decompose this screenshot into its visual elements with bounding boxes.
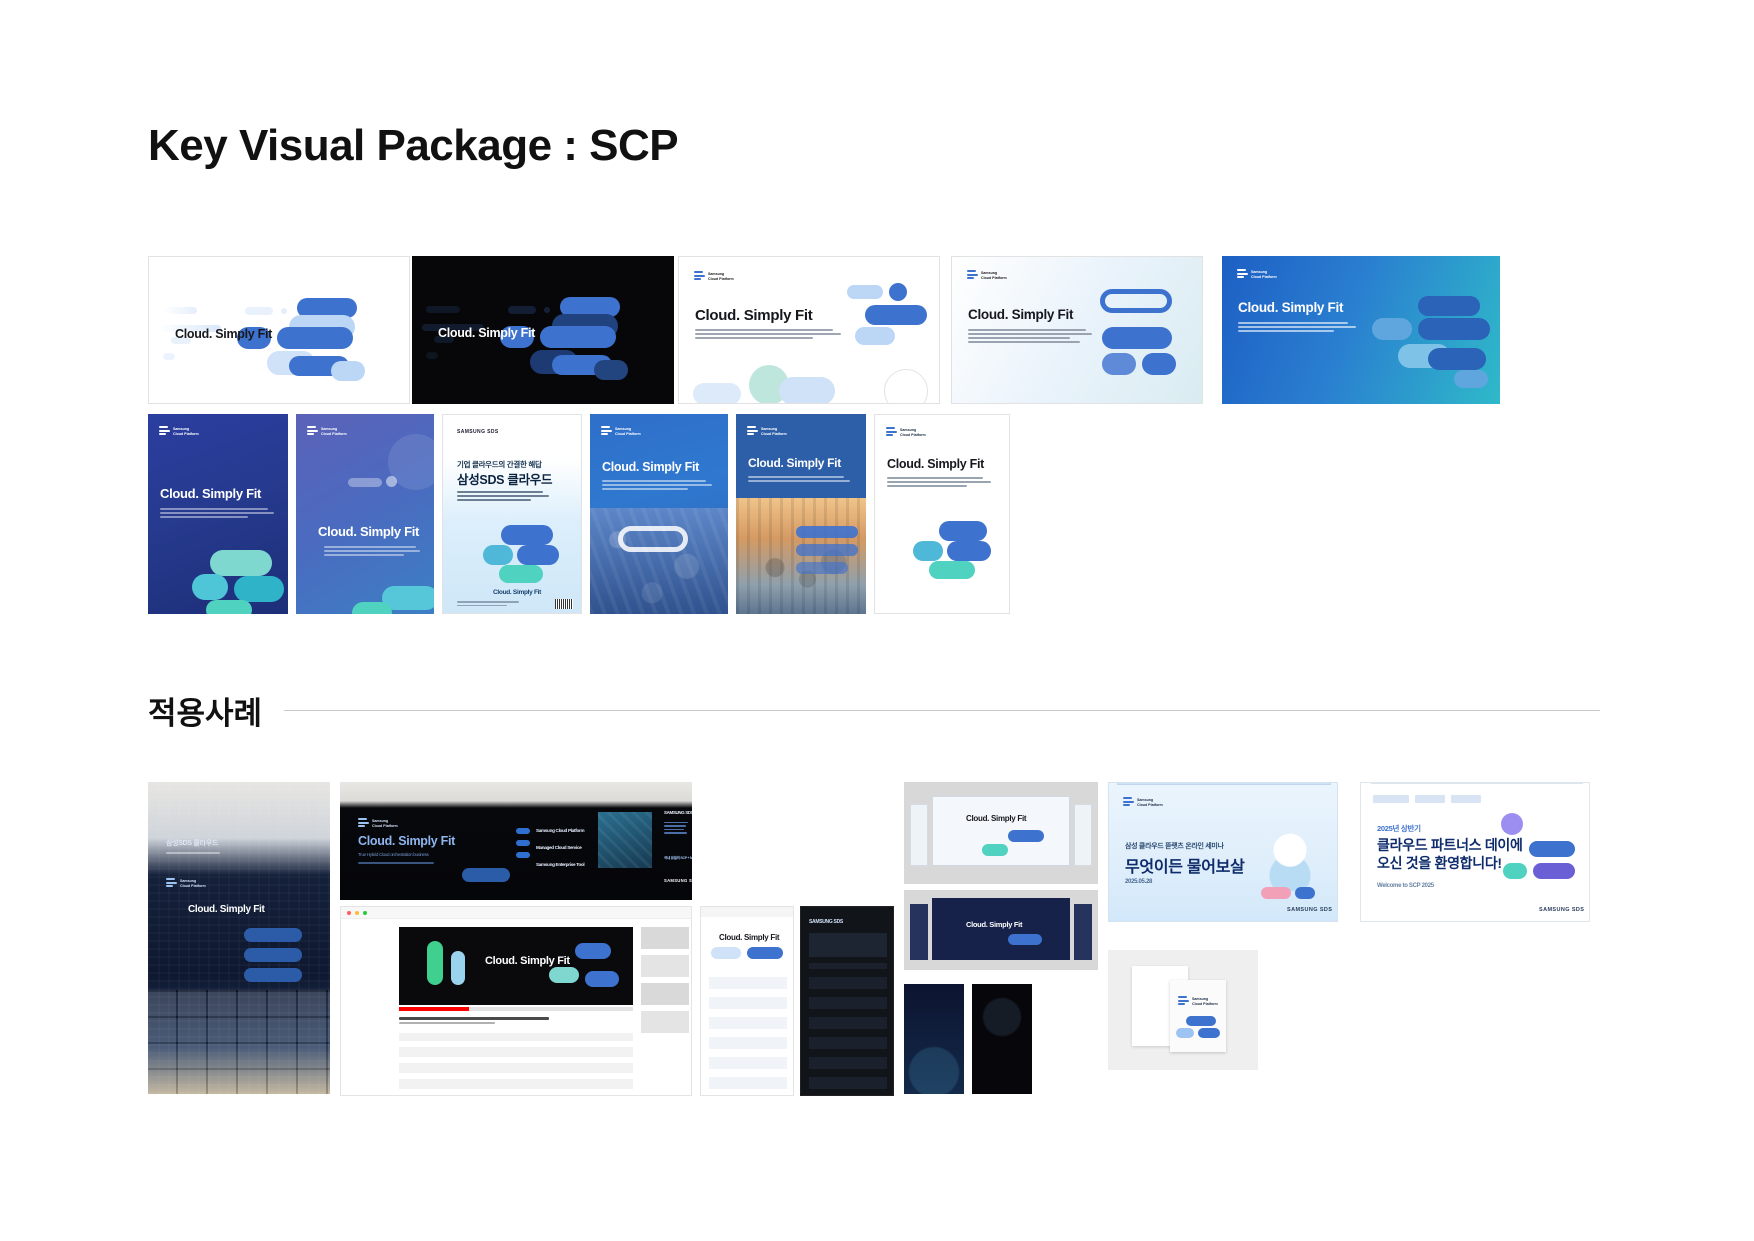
brochure-body-lines [457,491,549,503]
samsung-cloud-mark [159,426,170,437]
logo-line-1: Samsung [900,428,916,432]
kv-thumb-poster-photo-blue[interactable]: Samsung Cloud Platform Cloud. Simply Fit [590,414,728,614]
booth-kiosk-left [910,804,928,866]
logo-line-1: Samsung [708,272,724,276]
kv-tagline: Cloud. Simply Fit [602,460,699,474]
kv-thumb-black-horizontal[interactable]: Cloud. Simply Fit [412,256,674,404]
logo-line-2: Cloud Platform [173,432,199,436]
app-menu-chip-2 [244,968,302,982]
kv-thumb-poster-violet[interactable]: Samsung Cloud Platform Cloud. Simply Fit [296,414,434,614]
section-heading-label: 적용사례 [148,688,262,733]
app-signage-video-tile [598,812,652,868]
logo-line-2: Cloud Platform [900,433,926,437]
brochure-footer-tagline: Cloud. Simply Fit [493,589,541,596]
partners-logo-row [1373,795,1503,805]
webinar-mascot [1267,831,1313,891]
kv-thumb-poster-deepblue[interactable]: Samsung Cloud Platform Cloud. Simply Fit [148,414,288,614]
app-tagline: Cloud. Simply Fit [485,955,570,967]
partners-eyebrow: 2025년 상반기 [1377,823,1421,834]
samsung-cloud-mark [1178,996,1189,1007]
samsung-cloud-mark [358,818,369,829]
kv-thumb-blue-gradient[interactable]: Samsung Cloud Platform Cloud. Simply Fit [1222,256,1500,404]
app-signage-menu: Samsung Cloud Platform Managed Cloud Ser… [536,828,584,843]
kv-thumb-poster-photo-street[interactable]: Samsung Cloud Platform Cloud. Simply Fit [736,414,866,614]
app-video-sidebar [641,927,689,1087]
samsung-cloud-mark [694,271,705,282]
kv-thumb-brochure-cover[interactable]: SAMSUNG SDS 기업 클라우드의 간결한 해답 삼성SDS 클라우드 C… [442,414,582,614]
app-wide-led-signage[interactable]: Samsung Cloud Platform Cloud. Simply Fit… [340,782,692,900]
logo-line-2: Cloud Platform [761,432,787,436]
samsung-cloud-mark [601,426,612,437]
samsung-cloud-mark [967,270,978,281]
webinar-headline: 무엇이든 물어보살 [1125,853,1245,877]
brand-logo: Samsung Cloud Platform [967,270,1007,281]
kv-tagline: Cloud. Simply Fit [968,307,1073,322]
app-panel-heading: SAMSUNG SDS는 [664,810,692,816]
samsung-cloud-mark [747,426,758,437]
kv-thumb-white-slide[interactable]: Samsung Cloud Platform Cloud. Simply Fit [678,256,940,404]
kv-body-lines [887,477,991,489]
brand-logo: Samsung Cloud Platform [747,426,787,437]
samsung-cloud-mark [166,878,177,889]
kv-menu-chip-1 [796,544,858,556]
kv-tagline: Cloud. Simply Fit [695,307,812,324]
brochure-eyebrow: SAMSUNG SDS [457,429,499,435]
app-menu-chip-1 [244,948,302,962]
app-poster-dark-pair-2[interactable] [972,984,1032,1094]
brochure-headline-big: 삼성SDS 클라우드 [457,469,552,488]
booth-kiosk-right [1074,804,1092,866]
app-menu-chip-0 [244,928,302,942]
brand-logo: Samsung Cloud Platform [307,426,347,437]
app-menu-label-2: Samsung Enterprise Tool [536,862,584,867]
app-tagline: Cloud. Simply Fit [719,933,779,942]
app-exhibition-booth-dark[interactable]: Cloud. Simply Fit [904,890,1098,970]
logo-line-1: Samsung [1251,270,1267,274]
app-tagline: Cloud. Simply Fit [966,814,1026,823]
kv-thumb-poster-white[interactable]: Samsung Cloud Platform Cloud. Simply Fit [874,414,1010,614]
app-tagline: Cloud. Simply Fit [358,834,455,848]
app-floor-reflection [148,990,330,1094]
brand-logo: Samsung Cloud Platform [358,818,398,829]
booth-kiosk-right [1074,904,1092,960]
samsung-cloud-mark [307,426,318,437]
webinar-brand: SAMSUNG SDS [1287,907,1332,913]
kv-thumb-light-gradient[interactable]: Samsung Cloud Platform Cloud. Simply Fit [951,256,1203,404]
app-tagline: Cloud. Simply Fit [966,920,1022,929]
kv-body-lines [968,329,1092,345]
logo-line-2: Cloud Platform [1251,275,1277,279]
kv-body-lines [324,546,420,558]
kv-tagline: Cloud. Simply Fit [748,456,841,470]
logo-line-1: Samsung [761,427,777,431]
kv-tagline: Cloud. Simply Fit [1238,300,1343,315]
kv-tagline: Cloud. Simply Fit [887,457,984,471]
logo-line-1: Samsung [615,427,631,431]
logo-line-2: Cloud Platform [981,276,1007,280]
brochure-barcode [555,599,573,609]
app-partners-day-card[interactable]: 2025년 상반기 클라우드 파트너스 데이에 오신 것을 환영합니다! Wel… [1360,782,1590,922]
app-exhibition-booth-light[interactable]: Cloud. Simply Fit [904,782,1098,884]
kv-menu-chip-0 [796,526,858,538]
app-subtitle: SAMSUNG SDS [809,919,843,925]
samsung-cloud-mark [1237,269,1248,280]
app-brand-mark: SAMSUNG SDS [664,878,692,883]
kv-tagline: Cloud. Simply Fit [318,524,419,539]
samsung-cloud-mark [1123,797,1134,808]
app-signage-right-panel: SAMSUNG SDS는 국내 유일의 SCP + MCP 서비스 제공 기업 … [662,808,690,894]
brand-logo: Samsung Cloud Platform [1178,996,1218,1007]
logo-line-1: Samsung [321,427,337,431]
section-heading-rule [284,710,1600,711]
kv-body-lines [1238,322,1356,334]
kv-tagline: Cloud. Simply Fit [160,486,261,501]
kv-menu-chip-2 [796,562,848,574]
kv-body-lines [695,329,841,341]
app-youtube-video[interactable]: Cloud. Simply Fit [340,906,692,1096]
app-shopping-bag-mockup[interactable]: Samsung Cloud Platform [1108,950,1258,1070]
booth-kiosk-left [910,904,928,960]
app-caption-top: 삼성SDS 클라우드 [166,838,218,848]
webinar-date: 2025.05.28 [1125,879,1152,885]
brand-logo: Samsung Cloud Platform [1123,797,1163,808]
app-mobile-dark-list [809,963,887,1089]
logo-line-2: Cloud Platform [615,432,641,436]
app-video-comments [399,1033,633,1089]
partners-sub: Welcome to SCP 2025 [1377,883,1434,889]
webinar-eyebrow: 삼성 클라우드 뜯랫츠 온라인 세미나 [1125,841,1224,851]
app-menu-label-1: Managed Cloud Service [536,845,584,850]
kv-body-lines [160,508,274,520]
brand-logo: Samsung Cloud Platform [159,426,199,437]
brand-logo: Samsung Cloud Platform [601,426,641,437]
partners-headline: 클라우드 파트너스 데이에 오신 것을 환영합니다! [1377,837,1523,873]
samsung-cloud-mark [886,427,897,438]
logo-line-2: Cloud Platform [708,277,734,281]
logo-line-1: Samsung [173,427,189,431]
kv-photo-strip [590,508,728,614]
app-webinar-card[interactable]: Samsung Cloud Platform 삼성 클라우드 뜯랫츠 온라인 세… [1108,782,1338,922]
app-mobile-list [709,969,787,1089]
app-lobby-led-pillar[interactable]: 삼성SDS 클라우드 Samsung Cloud Platform Cloud.… [148,782,330,1094]
app-tagline: Cloud. Simply Fit [188,904,265,915]
app-mobile-app-screens-dark[interactable]: SAMSUNG SDS [800,906,894,1096]
kv-body-lines [748,476,850,484]
kv-thumb-white-horizontal[interactable]: Cloud. Simply Fit [148,256,410,404]
app-mobile-app-screens[interactable]: Cloud. Simply Fit [700,906,794,1096]
kv-photo-street [736,498,866,614]
brand-logo: Samsung Cloud Platform [166,878,206,889]
logo-line-1: Samsung [981,271,997,275]
app-panel-footer: 국내 유일의 SCP + MCP 서비스 제공 기업 [664,856,692,861]
app-poster-dark-pair[interactable] [904,984,964,1094]
kv-tagline: Cloud. Simply Fit [438,326,535,340]
logo-line-2: Cloud Platform [321,432,347,436]
app-menu-label-0: Samsung Cloud Platform [536,828,584,833]
brand-logo: Samsung Cloud Platform [886,427,926,438]
page-title: Key Visual Package : SCP [148,121,678,171]
kv-tagline: Cloud. Simply Fit [175,327,272,341]
partners-brand: SAMSUNG SDS [1539,907,1584,913]
app-video-stage: Cloud. Simply Fit [399,927,633,1005]
section-heading: 적용사례 [148,688,1600,733]
kv-body-lines [602,480,712,492]
brand-logo: Samsung Cloud Platform [694,271,734,282]
app-signage-sub: True Hybrid Cloud orchestration business [358,852,429,857]
app-video-controls[interactable] [399,1007,633,1011]
brand-logo: Samsung Cloud Platform [1237,269,1277,280]
